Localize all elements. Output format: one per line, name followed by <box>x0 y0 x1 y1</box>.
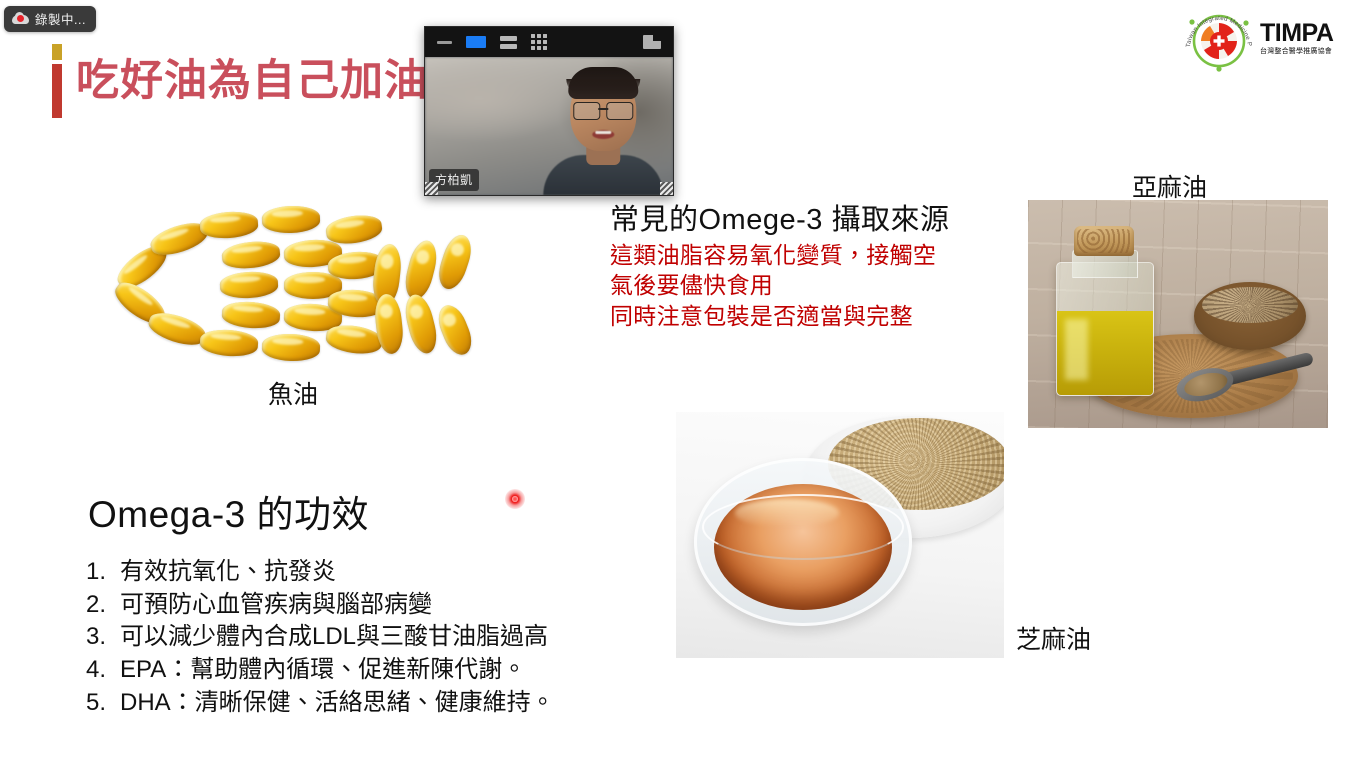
page-title: 吃好油為自己加油 <box>76 60 428 103</box>
list-item: 4. EPA：幫助體內循環、促進新陳代謝。 <box>86 654 555 687</box>
picture-in-picture-icon[interactable] <box>643 35 661 49</box>
video-window[interactable]: 方柏凱 <box>424 26 674 196</box>
slide-title-group: 吃好油為自己加油 <box>52 44 428 118</box>
caption-sesame-oil: 芝麻油 <box>1016 620 1091 656</box>
list-item-text: 可以減少體內合成LDL與三酸甘油脂過高 <box>120 621 548 654</box>
timpa-emblem-icon: Taiwan Integrated Medicine Promotion Ass… <box>1182 3 1256 73</box>
title-accent-bar <box>52 44 62 118</box>
list-item-number: 3. <box>86 621 120 654</box>
list-item: 3. 可以減少體內合成LDL與三酸甘油脂過高 <box>86 621 555 654</box>
omega3-benefits-heading: Omega-3 的功效 <box>88 484 369 538</box>
logo-subtitle: 台灣整合醫學推廣協會 <box>1260 48 1333 55</box>
recording-badge[interactable]: 錄製中... <box>4 6 96 32</box>
resize-handle-right[interactable] <box>660 182 673 195</box>
recording-label: 錄製中... <box>35 9 86 28</box>
laser-pointer <box>505 489 525 509</box>
split-view-icon[interactable] <box>500 36 517 49</box>
speaker-view-icon[interactable] <box>466 36 486 48</box>
list-item-text: DHA：清晰保健、活絡思緒、健康維持。 <box>120 687 555 720</box>
caption-flaxseed-oil: 亞麻油 <box>1132 168 1207 204</box>
oxidation-warning: 這類油脂容易氧化變質，接觸空 氣後要儘快食用 同時注意包裝是否適當與完整 <box>610 240 936 331</box>
list-item: 2. 可預防心血管疾病與腦部病變 <box>86 589 555 622</box>
warning-line-1: 這類油脂容易氧化變質，接觸空 <box>610 240 936 270</box>
gallery-view-icon[interactable] <box>531 34 547 50</box>
list-item-text: 有效抗氧化、抗發炎 <box>120 556 336 589</box>
minimize-icon[interactable] <box>437 41 452 44</box>
caption-fish-oil: 魚油 <box>268 375 318 411</box>
presentation-slide: 錄製中... 吃好油為自己加油 <box>0 0 1366 768</box>
list-item-number: 2. <box>86 589 120 622</box>
omega3-benefits-list: 1. 有效抗氧化、抗發炎 2. 可預防心血管疾病與腦部病變 3. 可以減少體內合… <box>86 556 555 719</box>
list-item: 1. 有效抗氧化、抗發炎 <box>86 556 555 589</box>
list-item-text: 可預防心血管疾病與腦部病變 <box>120 589 432 622</box>
resize-handle-left[interactable] <box>425 182 438 195</box>
omega3-sources-heading: 常見的Omege-3 攝取來源 <box>610 196 949 238</box>
video-feed[interactable]: 方柏凱 <box>425 57 673 195</box>
logo-brand: TIMPA <box>1260 21 1333 46</box>
list-item-number: 5. <box>86 687 120 720</box>
list-item-number: 4. <box>86 654 120 687</box>
fish-oil-capsules-image <box>112 196 484 368</box>
sesame-oil-image <box>676 412 1004 658</box>
warning-line-3: 同時注意包裝是否適當與完整 <box>610 301 936 331</box>
list-item-number: 1. <box>86 556 120 589</box>
timpa-logo: Taiwan Integrated Medicine Promotion Ass… <box>1182 2 1358 74</box>
flaxseed-oil-image <box>1028 200 1328 428</box>
video-toolbar[interactable] <box>425 27 673 57</box>
list-item-text: EPA：幫助體內循環、促進新陳代謝。 <box>120 654 526 687</box>
warning-line-2: 氣後要儘快食用 <box>610 270 936 300</box>
list-item: 5. DHA：清晰保健、活絡思緒、健康維持。 <box>86 687 555 720</box>
participant-video-avatar <box>544 75 662 195</box>
cloud-record-icon <box>12 13 29 25</box>
